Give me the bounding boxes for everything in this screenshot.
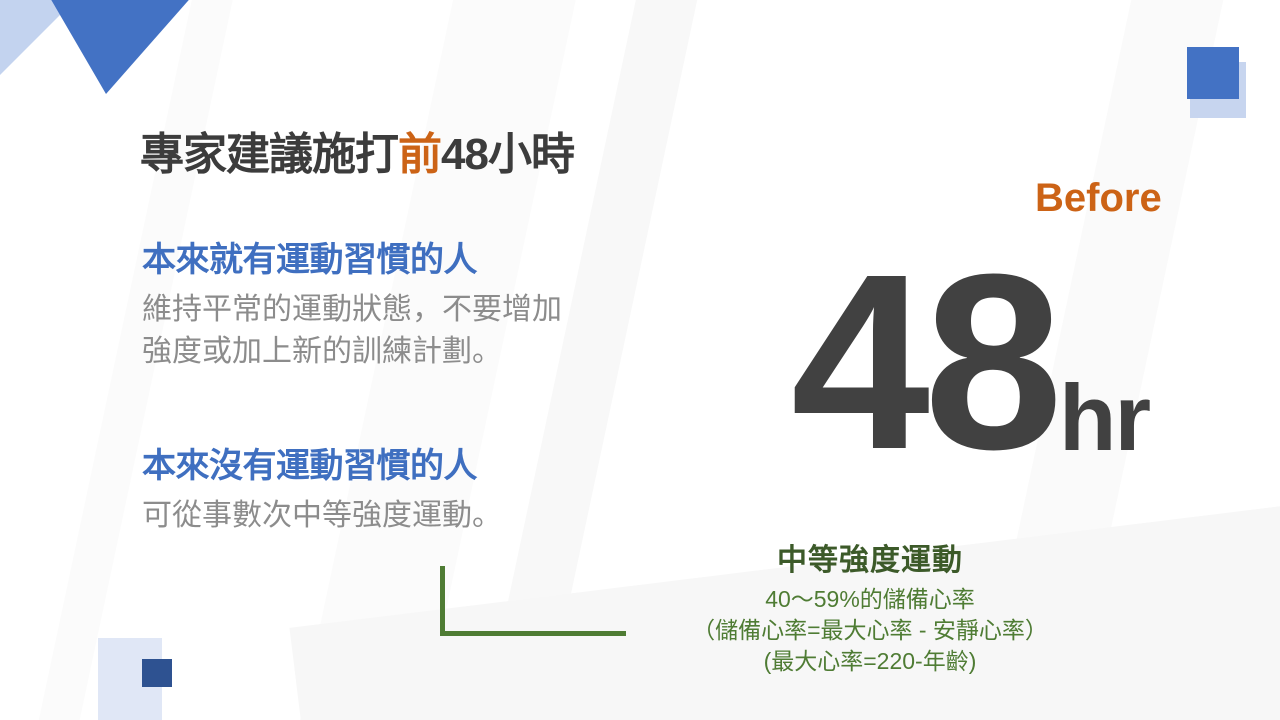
bottom-left-navy-square-decoration <box>142 659 172 687</box>
connector-line-vertical <box>440 566 445 636</box>
bottom-right-decoration-group <box>1120 600 1280 720</box>
top-right-blue-square-decoration <box>1187 47 1239 99</box>
top-right-light-square-decoration <box>1190 62 1246 118</box>
moderate-intensity-details: 40～59%的儲備心率 （儲備心率=最大心率 - 安靜心率） (最大心率=220… <box>620 584 1120 678</box>
section-inactive-people: 本來沒有運動習慣的人 可從事數次中等強度運動。 <box>142 446 502 537</box>
page-title-lead: 專家建議施打 <box>140 130 398 179</box>
duration-number: 48 <box>791 259 1057 464</box>
duration-unit: hr <box>1059 373 1149 462</box>
top-left-light-wedge-decoration <box>0 0 85 85</box>
connector-line-horizontal <box>440 631 626 636</box>
bottom-left-light-square-decoration <box>98 638 162 720</box>
moderate-intensity-note: 中等強度運動 40～59%的儲備心率 （儲備心率=最大心率 - 安靜心率） (最… <box>620 542 1120 677</box>
section-body: 維持平常的運動狀態，不要增加 強度或加上新的訓練計劃。 <box>142 289 562 374</box>
page-title-tail: 48小時 <box>441 130 574 179</box>
slide-canvas: 專家建議施打前48小時 本來就有運動習慣的人 維持平常的運動狀態，不要增加 強度… <box>0 0 1280 720</box>
moderate-intensity-line: （儲備心率=最大心率 - 安靜心率） <box>620 615 1120 646</box>
section-heading: 本來就有運動習慣的人 <box>142 240 562 281</box>
section-body-line: 強度或加上新的訓練計劃。 <box>142 331 562 374</box>
top-left-blue-triangle-decoration <box>28 0 224 94</box>
section-heading: 本來沒有運動習慣的人 <box>142 446 502 487</box>
moderate-intensity-title: 中等強度運動 <box>620 542 1120 580</box>
duration-callout: 48hr <box>735 214 1205 464</box>
section-body-line: 維持平常的運動狀態，不要增加 <box>142 289 562 332</box>
section-active-people: 本來就有運動習慣的人 維持平常的運動狀態，不要增加 強度或加上新的訓練計劃。 <box>142 240 562 374</box>
moderate-intensity-line: 40～59%的儲備心率 <box>620 584 1120 615</box>
section-body-line: 可從事數次中等強度運動。 <box>142 495 502 538</box>
section-body: 可從事數次中等強度運動。 <box>142 495 502 538</box>
page-title: 專家建議施打前48小時 <box>140 118 574 182</box>
page-title-highlight: 前 <box>398 130 441 179</box>
moderate-intensity-line: (最大心率=220-年齡) <box>620 646 1120 677</box>
